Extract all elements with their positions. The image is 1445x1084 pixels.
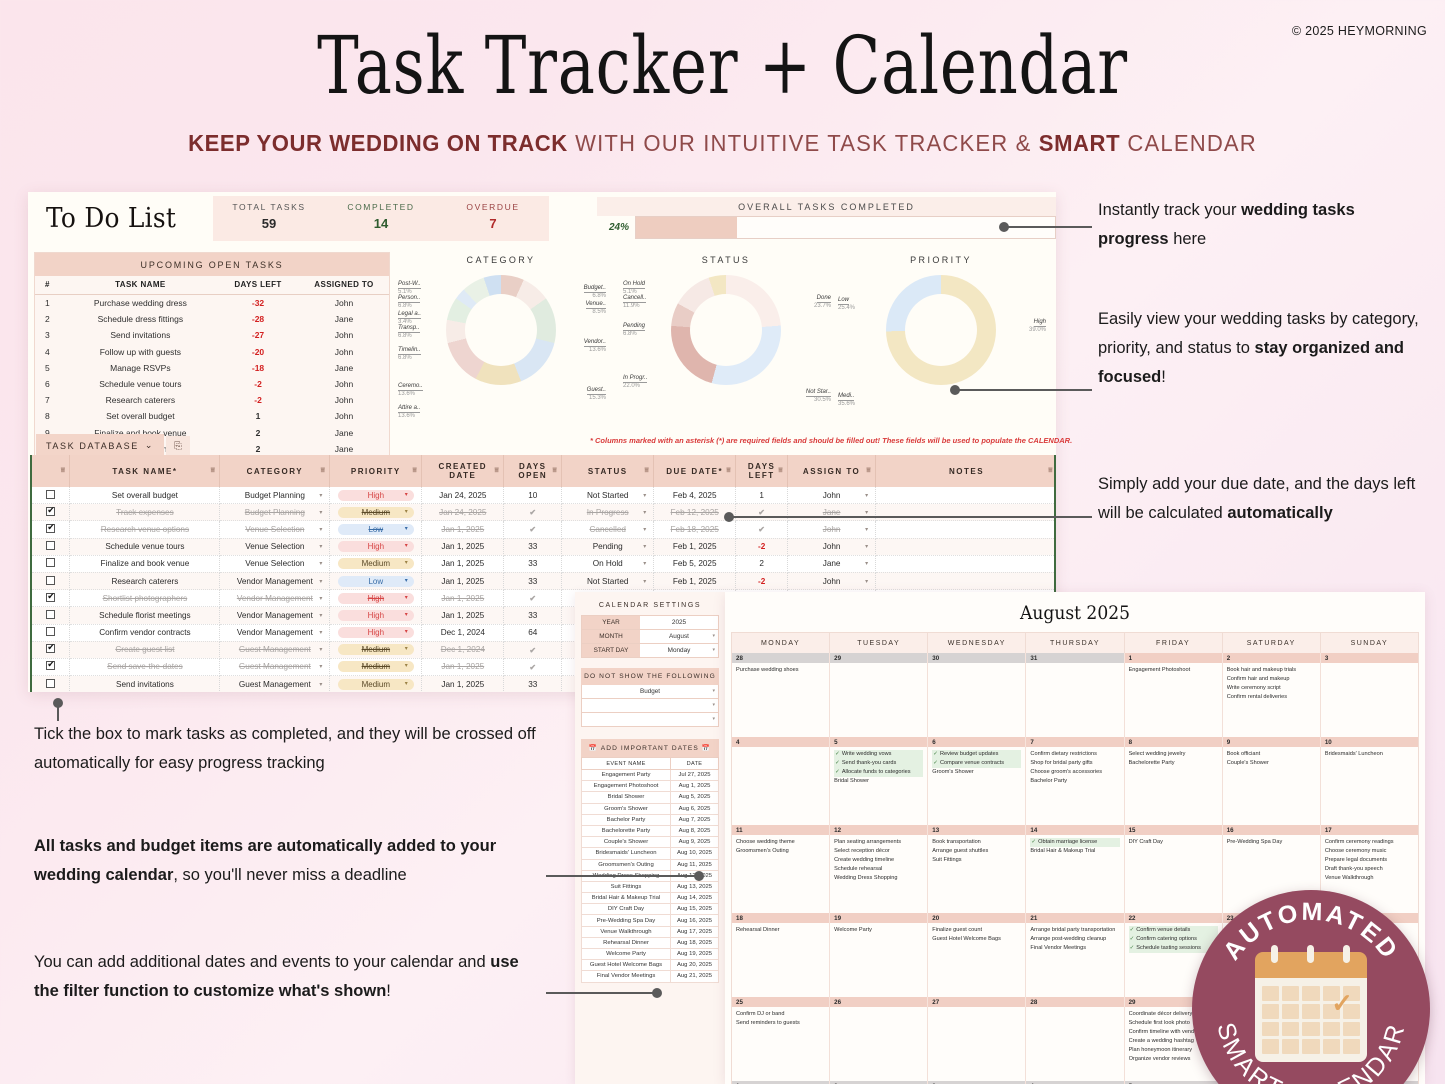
row-assign-to[interactable]: John▾ bbox=[788, 521, 876, 538]
calendar-event[interactable]: ✓Compare venue contracts bbox=[932, 759, 1021, 768]
important-date-row[interactable]: Engagement PartyJul 27, 2025 bbox=[582, 770, 719, 781]
task-checkbox[interactable] bbox=[46, 679, 55, 688]
important-date-row[interactable]: DIY Craft DayAug 15, 2025 bbox=[582, 904, 719, 915]
filter-icon[interactable]: ⩸ bbox=[1048, 467, 1054, 475]
row-task-name[interactable]: Schedule venue tours bbox=[70, 538, 220, 555]
chevron-down-icon[interactable]: ▾ bbox=[319, 681, 322, 688]
priority-chip[interactable]: Medium▾ bbox=[338, 661, 414, 672]
row-due-date[interactable]: Feb 5, 2025 bbox=[654, 555, 736, 572]
table-row[interactable]: Set overall budgetBudget Planning▾High▾J… bbox=[32, 487, 1056, 504]
important-event-name[interactable]: Guest Hotel Welcome Bags bbox=[582, 960, 671, 971]
calendar-day-cell[interactable] bbox=[732, 747, 830, 825]
chevron-down-icon[interactable]: ▾ bbox=[319, 578, 322, 585]
chevron-down-icon[interactable]: ▾ bbox=[319, 492, 322, 499]
task-checkbox[interactable] bbox=[46, 627, 55, 636]
setting-value[interactable]: 2025 bbox=[640, 616, 718, 629]
filter-icon[interactable]: ⩸ bbox=[778, 467, 784, 475]
calendar-event[interactable]: Book transportation bbox=[932, 838, 1021, 847]
calendar-event[interactable]: Guest Hotel Welcome Bags bbox=[932, 935, 1021, 944]
calendar-event[interactable]: Select wedding jewelry bbox=[1129, 750, 1218, 759]
chevron-down-icon[interactable]: ▾ bbox=[712, 702, 715, 708]
row-checkbox-cell[interactable] bbox=[32, 641, 70, 658]
row-due-date[interactable]: Feb 1, 2025 bbox=[654, 572, 736, 589]
calendar-event[interactable]: Arrange guest shuttles bbox=[932, 847, 1021, 856]
calendar-day-cell[interactable]: Choose wedding themeGroomsmen's Outing bbox=[732, 835, 830, 913]
priority-chip[interactable]: High▾ bbox=[338, 627, 414, 638]
category-dropdown[interactable]: Vendor Management▾ bbox=[223, 611, 326, 620]
assign-dropdown[interactable]: John▾ bbox=[791, 491, 872, 500]
calendar-event[interactable]: Bridal Shower bbox=[834, 777, 923, 786]
important-date-row[interactable]: Bridesmaids' LuncheonAug 10, 2025 bbox=[582, 848, 719, 859]
important-event-name[interactable]: Bridesmaids' Luncheon bbox=[582, 848, 671, 859]
important-event-date[interactable]: Aug 20, 2025 bbox=[671, 960, 719, 971]
important-event-date[interactable]: Aug 15, 2025 bbox=[671, 904, 719, 915]
db-col-checkbox[interactable]: ⩸ bbox=[32, 455, 70, 487]
chevron-down-icon[interactable]: ▾ bbox=[405, 628, 408, 635]
db-col-created-date[interactable]: CREATED DATE⩸ bbox=[422, 455, 504, 487]
tab-task-database[interactable]: TASK DATABASE ⌄ bbox=[36, 434, 164, 456]
chevron-down-icon[interactable]: ▾ bbox=[712, 688, 715, 694]
status-dropdown[interactable]: On Hold▾ bbox=[565, 559, 650, 568]
calendar-day-cell[interactable]: Purchase wedding shoes bbox=[732, 663, 830, 737]
calendar-day-cell[interactable]: ✓Review budget updates✓Compare venue con… bbox=[928, 747, 1026, 825]
row-assign-to[interactable]: John▾ bbox=[788, 487, 876, 504]
calendar-event[interactable]: DIY Craft Day bbox=[1129, 838, 1218, 847]
row-category[interactable]: Guest Management▾ bbox=[220, 658, 330, 675]
row-checkbox-cell[interactable] bbox=[32, 624, 70, 641]
calendar-day-cell[interactable]: Bridesmaids' Luncheon bbox=[1321, 747, 1418, 825]
task-checkbox[interactable] bbox=[46, 490, 55, 499]
row-category[interactable]: Guest Management▾ bbox=[220, 641, 330, 658]
calendar-event[interactable]: Bridal Hair & Makeup Trial bbox=[1030, 847, 1119, 856]
row-priority[interactable]: Medium▾ bbox=[330, 658, 422, 675]
important-event-name[interactable]: Couple's Shower bbox=[582, 837, 671, 848]
calendar-event[interactable]: Shop for bridal party gifts bbox=[1030, 759, 1119, 768]
calendar-event[interactable]: Schedule rehearsal bbox=[834, 865, 923, 874]
row-checkbox-cell[interactable] bbox=[32, 572, 70, 589]
row-task-name[interactable]: Schedule florist meetings bbox=[70, 607, 220, 624]
assign-dropdown[interactable]: John▾ bbox=[791, 577, 872, 586]
row-priority[interactable]: High▾ bbox=[330, 590, 422, 607]
important-event-date[interactable]: Aug 11, 2025 bbox=[671, 859, 719, 870]
important-event-name[interactable]: Pre-Wedding Spa Day bbox=[582, 915, 671, 926]
row-priority[interactable]: Low▾ bbox=[330, 572, 422, 589]
row-task-name[interactable]: Research venue options bbox=[70, 521, 220, 538]
chevron-down-icon[interactable]: ▾ bbox=[405, 594, 408, 601]
calendar-event[interactable]: Confirm hair and makeup bbox=[1227, 675, 1316, 684]
task-checkbox[interactable] bbox=[46, 576, 55, 585]
row-assign-to[interactable]: Jane▾ bbox=[788, 504, 876, 521]
calendar-day-cell[interactable]: Plan seating arrangementsSelect receptio… bbox=[830, 835, 928, 913]
row-status[interactable]: Pending▾ bbox=[562, 538, 654, 555]
row-category[interactable]: Venue Selection▾ bbox=[220, 521, 330, 538]
setting-value[interactable]: August▾ bbox=[640, 630, 718, 643]
row-checkbox-cell[interactable] bbox=[32, 504, 70, 521]
row-task-name[interactable]: Research caterers bbox=[70, 572, 220, 589]
row-category[interactable]: Venue Selection▾ bbox=[220, 555, 330, 572]
row-priority[interactable]: Medium▾ bbox=[330, 504, 422, 521]
chevron-down-icon[interactable]: ▾ bbox=[405, 645, 408, 652]
calendar-event[interactable]: Draft thank-you speech bbox=[1325, 865, 1414, 874]
filter-icon[interactable]: ⩸ bbox=[644, 467, 650, 475]
calendar-event[interactable]: ✓Allocate funds to categories bbox=[834, 768, 923, 777]
calendar-event[interactable]: Write ceremony script bbox=[1227, 684, 1316, 693]
important-date-row[interactable]: Groomsmen's OutingAug 11, 2025 bbox=[582, 859, 719, 870]
task-checkbox[interactable] bbox=[46, 661, 55, 670]
calendar-event[interactable]: ✓Write wedding vows bbox=[834, 750, 923, 759]
important-event-name[interactable]: Bachelorette Party bbox=[582, 825, 671, 836]
category-dropdown[interactable]: Budget Planning▾ bbox=[223, 491, 326, 500]
row-category[interactable]: Vendor Management▾ bbox=[220, 572, 330, 589]
calendar-event[interactable]: Confirm ceremony readings bbox=[1325, 838, 1414, 847]
db-col-days-open[interactable]: DAYS OPEN⩸ bbox=[504, 455, 562, 487]
filter-icon[interactable]: ⩸ bbox=[495, 467, 501, 475]
row-task-name[interactable]: Track expenses bbox=[70, 504, 220, 521]
calendar-event[interactable]: Arrange bridal party transportation bbox=[1030, 926, 1119, 935]
row-status[interactable]: Not Started▾ bbox=[562, 487, 654, 504]
priority-chip[interactable]: High▾ bbox=[338, 610, 414, 621]
chevron-down-icon[interactable]: ▾ bbox=[643, 492, 646, 499]
row-task-name[interactable]: Send invitations bbox=[70, 676, 220, 692]
calendar-day-cell[interactable]: Rehearsal Dinner bbox=[732, 923, 830, 997]
calendar-event[interactable]: Suit Fittings bbox=[932, 856, 1021, 865]
row-status[interactable]: On Hold▾ bbox=[562, 555, 654, 572]
row-checkbox-cell[interactable] bbox=[32, 676, 70, 692]
row-checkbox-cell[interactable] bbox=[32, 555, 70, 572]
calendar-event[interactable]: Engagement Photoshoot bbox=[1129, 666, 1218, 675]
important-date-row[interactable]: Engagement PhotoshootAug 1, 2025 bbox=[582, 781, 719, 792]
important-event-date[interactable]: Aug 16, 2025 bbox=[671, 915, 719, 926]
chevron-down-icon[interactable]: ⌄ bbox=[145, 440, 154, 451]
row-notes[interactable] bbox=[876, 504, 1056, 521]
chevron-down-icon[interactable]: ▾ bbox=[405, 662, 408, 669]
task-checkbox[interactable] bbox=[46, 524, 55, 533]
calendar-event[interactable]: Finalize guest count bbox=[932, 926, 1021, 935]
chevron-down-icon[interactable]: ▾ bbox=[712, 633, 715, 639]
setting-value[interactable]: Monday▾ bbox=[640, 644, 718, 657]
chevron-down-icon[interactable]: ▾ bbox=[319, 629, 322, 636]
filter-icon[interactable]: ⩸ bbox=[321, 467, 327, 475]
calendar-event[interactable]: Choose ceremony music bbox=[1325, 847, 1414, 856]
table-row[interactable]: Research caterersVendor Management▾Low▾J… bbox=[32, 572, 1056, 589]
chevron-down-icon[interactable]: ▾ bbox=[643, 509, 646, 516]
calendar-event[interactable]: Send reminders to guests bbox=[736, 1019, 825, 1028]
important-date-row[interactable]: Bachelorette PartyAug 8, 2025 bbox=[582, 825, 719, 836]
important-date-row[interactable]: Bridal Hair & Makeup TrialAug 14, 2025 bbox=[582, 893, 719, 904]
calendar-day-cell[interactable]: Engagement Photoshoot bbox=[1125, 663, 1223, 737]
chevron-down-icon[interactable]: ▾ bbox=[405, 559, 408, 566]
chevron-down-icon[interactable]: ▾ bbox=[712, 647, 715, 653]
important-date-row[interactable]: Guest Hotel Welcome BagsAug 20, 2025 bbox=[582, 960, 719, 971]
important-event-date[interactable]: Aug 1, 2025 bbox=[671, 781, 719, 792]
row-category[interactable]: Venue Selection▾ bbox=[220, 538, 330, 555]
row-checkbox-cell[interactable] bbox=[32, 538, 70, 555]
important-event-name[interactable]: Venue Walkthrough bbox=[582, 926, 671, 937]
important-event-name[interactable]: Rehearsal Dinner bbox=[582, 937, 671, 948]
calendar-event[interactable]: Plan seating arrangements bbox=[834, 838, 923, 847]
table-row[interactable]: Finalize and book venueVenue Selection▾M… bbox=[32, 555, 1056, 572]
row-notes[interactable] bbox=[876, 538, 1056, 555]
important-event-name[interactable]: Groomsmen's Outing bbox=[582, 859, 671, 870]
row-due-date[interactable]: Feb 18, 2025 bbox=[654, 521, 736, 538]
important-event-name[interactable]: Groom's Shower bbox=[582, 803, 671, 814]
row-checkbox-cell[interactable] bbox=[32, 607, 70, 624]
important-event-date[interactable]: Aug 19, 2025 bbox=[671, 949, 719, 960]
filter-icon[interactable]: ⩸ bbox=[866, 467, 872, 475]
filter-icon[interactable]: ⩸ bbox=[211, 467, 217, 475]
chevron-down-icon[interactable]: ▾ bbox=[405, 491, 408, 498]
calendar-event[interactable]: ✓Obtain marriage license bbox=[1030, 838, 1119, 847]
important-event-date[interactable]: Aug 6, 2025 bbox=[671, 803, 719, 814]
row-category[interactable]: Budget Planning▾ bbox=[220, 504, 330, 521]
calendar-day-cell[interactable]: Book transportationArrange guest shuttle… bbox=[928, 835, 1026, 913]
chevron-down-icon[interactable]: ▾ bbox=[319, 663, 322, 670]
important-event-name[interactable]: Suit Fittings bbox=[582, 881, 671, 892]
important-event-name[interactable]: DIY Craft Day bbox=[582, 904, 671, 915]
calendar-day-cell[interactable] bbox=[1321, 663, 1418, 737]
row-checkbox-cell[interactable] bbox=[32, 487, 70, 504]
row-assign-to[interactable]: John▾ bbox=[788, 538, 876, 555]
calendar-day-cell[interactable]: ✓Obtain marriage licenseBridal Hair & Ma… bbox=[1026, 835, 1124, 913]
row-category[interactable]: Vendor Management▾ bbox=[220, 624, 330, 641]
exclude-option[interactable]: Budget▾ bbox=[581, 685, 719, 699]
important-event-date[interactable]: Aug 14, 2025 bbox=[671, 893, 719, 904]
row-priority[interactable]: High▾ bbox=[330, 607, 422, 624]
calendar-event[interactable]: Confirm rental deliveries bbox=[1227, 693, 1316, 702]
table-row[interactable]: Research venue optionsVenue Selection▾Lo… bbox=[32, 521, 1056, 538]
important-event-date[interactable]: Aug 18, 2025 bbox=[671, 937, 719, 948]
table-row[interactable]: Schedule venue toursVenue Selection▾High… bbox=[32, 538, 1056, 555]
row-priority[interactable]: Medium▾ bbox=[330, 676, 422, 692]
important-event-date[interactable]: Jul 27, 2025 bbox=[671, 770, 719, 781]
calendar-event[interactable]: Arrange post-wedding cleanup bbox=[1030, 935, 1119, 944]
row-checkbox-cell[interactable] bbox=[32, 590, 70, 607]
calendar-day-cell[interactable] bbox=[830, 663, 928, 737]
chevron-down-icon[interactable]: ▾ bbox=[643, 560, 646, 567]
calendar-event[interactable]: Bridesmaids' Luncheon bbox=[1325, 750, 1414, 759]
assign-dropdown[interactable]: John▾ bbox=[791, 525, 872, 534]
row-task-name[interactable]: Create guest list bbox=[70, 641, 220, 658]
chevron-down-icon[interactable]: ▾ bbox=[712, 716, 715, 722]
chevron-down-icon[interactable]: ▾ bbox=[405, 508, 408, 515]
row-notes[interactable] bbox=[876, 555, 1056, 572]
calendar-day-cell[interactable]: Finalize guest countGuest Hotel Welcome … bbox=[928, 923, 1026, 997]
important-date-row[interactable]: Couple's ShowerAug 9, 2025 bbox=[582, 837, 719, 848]
calendar-event[interactable]: Book hair and makeup trials bbox=[1227, 666, 1316, 675]
important-date-row[interactable]: Final Vendor MeetingsAug 21, 2025 bbox=[582, 971, 719, 982]
chevron-down-icon[interactable]: ▾ bbox=[865, 492, 868, 499]
row-priority[interactable]: Medium▾ bbox=[330, 641, 422, 658]
category-dropdown[interactable]: Vendor Management▾ bbox=[223, 628, 326, 637]
priority-chip[interactable]: Medium▾ bbox=[338, 679, 414, 690]
row-priority[interactable]: High▾ bbox=[330, 624, 422, 641]
priority-chip[interactable]: High▾ bbox=[338, 593, 414, 604]
calendar-event[interactable]: Choose wedding theme bbox=[736, 838, 825, 847]
row-category[interactable]: Vendor Management▾ bbox=[220, 607, 330, 624]
calendar-event[interactable]: Prepare legal documents bbox=[1325, 856, 1414, 865]
row-priority[interactable]: High▾ bbox=[330, 487, 422, 504]
important-date-row[interactable]: Bridal ShowerAug 5, 2025 bbox=[582, 792, 719, 803]
important-event-date[interactable]: Aug 5, 2025 bbox=[671, 792, 719, 803]
db-col-notes[interactable]: NOTES⩸ bbox=[876, 455, 1056, 487]
important-event-date[interactable]: Aug 9, 2025 bbox=[671, 837, 719, 848]
chevron-down-icon[interactable]: ▾ bbox=[319, 560, 322, 567]
category-dropdown[interactable]: Venue Selection▾ bbox=[223, 542, 326, 551]
db-col-task-name-[interactable]: TASK NAME*⩸ bbox=[70, 455, 220, 487]
priority-chip[interactable]: Medium▾ bbox=[338, 644, 414, 655]
important-event-date[interactable]: Aug 8, 2025 bbox=[671, 825, 719, 836]
db-col-assign-to[interactable]: ASSIGN TO⩸ bbox=[788, 455, 876, 487]
calendar-event[interactable]: Create wedding timeline bbox=[834, 856, 923, 865]
chevron-down-icon[interactable]: ▾ bbox=[643, 526, 646, 533]
calendar-event[interactable]: Confirm dietary restrictions bbox=[1030, 750, 1119, 759]
calendar-event[interactable]: Select reception décor bbox=[834, 847, 923, 856]
category-dropdown[interactable]: Budget Planning▾ bbox=[223, 508, 326, 517]
category-dropdown[interactable]: Venue Selection▾ bbox=[223, 525, 326, 534]
task-checkbox[interactable] bbox=[46, 541, 55, 550]
row-notes[interactable] bbox=[876, 487, 1056, 504]
row-priority[interactable]: Low▾ bbox=[330, 521, 422, 538]
chevron-down-icon[interactable]: ▾ bbox=[405, 611, 408, 618]
calendar-day-cell[interactable]: Confirm dietary restrictionsShop for bri… bbox=[1026, 747, 1124, 825]
exclude-option[interactable]: ▾ bbox=[581, 699, 719, 713]
category-dropdown[interactable]: Venue Selection▾ bbox=[223, 559, 326, 568]
calendar-event[interactable]: Confirm DJ or band bbox=[736, 1010, 825, 1019]
chevron-down-icon[interactable]: ▾ bbox=[865, 578, 868, 585]
row-assign-to[interactable]: John▾ bbox=[788, 572, 876, 589]
row-assign-to[interactable]: Jane▾ bbox=[788, 555, 876, 572]
important-event-date[interactable]: Aug 7, 2025 bbox=[671, 814, 719, 825]
task-checkbox[interactable] bbox=[46, 610, 55, 619]
important-date-row[interactable]: Groom's ShowerAug 6, 2025 bbox=[582, 803, 719, 814]
row-task-name[interactable]: Finalize and book venue bbox=[70, 555, 220, 572]
task-checkbox[interactable] bbox=[46, 644, 55, 653]
db-col-priority[interactable]: PRIORITY⩸ bbox=[330, 455, 422, 487]
calendar-day-cell[interactable]: Book hair and makeup trialsConfirm hair … bbox=[1223, 663, 1321, 737]
calendar-day-cell[interactable] bbox=[1026, 663, 1124, 737]
priority-chip[interactable]: Medium▾ bbox=[338, 558, 414, 569]
calendar-event[interactable]: Groom's Shower bbox=[932, 768, 1021, 777]
chevron-down-icon[interactable]: ▾ bbox=[865, 509, 868, 516]
calendar-day-cell[interactable] bbox=[1026, 1007, 1124, 1081]
row-due-date[interactable]: Feb 1, 2025 bbox=[654, 538, 736, 555]
row-status[interactable]: Cancelled▾ bbox=[562, 521, 654, 538]
calendar-event[interactable]: Choose groom's accessories bbox=[1030, 768, 1119, 777]
filter-icon[interactable]: ⩸ bbox=[413, 467, 419, 475]
chevron-down-icon[interactable]: ▾ bbox=[405, 542, 408, 549]
assign-dropdown[interactable]: Jane▾ bbox=[791, 559, 872, 568]
filter-icon[interactable]: ⩸ bbox=[552, 467, 558, 475]
important-event-date[interactable]: Aug 21, 2025 bbox=[671, 971, 719, 982]
category-dropdown[interactable]: Vendor Management▾ bbox=[223, 594, 326, 603]
row-status[interactable]: Not Started▾ bbox=[562, 572, 654, 589]
important-event-name[interactable]: Engagement Party bbox=[582, 770, 671, 781]
calendar-event[interactable]: Bachelorette Party bbox=[1129, 759, 1218, 768]
status-dropdown[interactable]: Not Started▾ bbox=[565, 577, 650, 586]
task-checkbox[interactable] bbox=[46, 507, 55, 516]
row-notes[interactable] bbox=[876, 521, 1056, 538]
filter-icon[interactable]: ⩸ bbox=[726, 467, 732, 475]
row-priority[interactable]: High▾ bbox=[330, 538, 422, 555]
chevron-down-icon[interactable]: ▾ bbox=[405, 680, 408, 687]
db-col-category[interactable]: CATEGORY⩸ bbox=[220, 455, 330, 487]
calendar-day-cell[interactable]: Select wedding jewelryBachelorette Party bbox=[1125, 747, 1223, 825]
row-notes[interactable] bbox=[876, 572, 1056, 589]
row-category[interactable]: Budget Planning▾ bbox=[220, 487, 330, 504]
calendar-event[interactable]: Welcome Party bbox=[834, 926, 923, 935]
calendar-event[interactable]: ✓Send thank-you cards bbox=[834, 759, 923, 768]
chevron-down-icon[interactable]: ▾ bbox=[319, 526, 322, 533]
important-event-date[interactable]: Aug 17, 2025 bbox=[671, 926, 719, 937]
priority-chip[interactable]: Low▾ bbox=[338, 576, 414, 587]
important-date-row[interactable]: Venue WalkthroughAug 17, 2025 bbox=[582, 926, 719, 937]
db-col-days-left[interactable]: DAYS LEFT⩸ bbox=[736, 455, 788, 487]
row-category[interactable]: Guest Management▾ bbox=[220, 676, 330, 692]
chevron-down-icon[interactable]: ▾ bbox=[643, 543, 646, 550]
calendar-event[interactable]: Couple's Shower bbox=[1227, 759, 1316, 768]
important-event-date[interactable]: Aug 10, 2025 bbox=[671, 848, 719, 859]
chevron-down-icon[interactable]: ▾ bbox=[319, 646, 322, 653]
important-event-date[interactable]: Aug 13, 2025 bbox=[671, 881, 719, 892]
calendar-event[interactable]: Final Vendor Meetings bbox=[1030, 944, 1119, 953]
important-event-name[interactable]: Bachelor Party bbox=[582, 814, 671, 825]
chevron-down-icon[interactable]: ▾ bbox=[865, 560, 868, 567]
chevron-down-icon[interactable]: ▾ bbox=[319, 543, 322, 550]
important-event-name[interactable]: Bridal Hair & Makeup Trial bbox=[582, 893, 671, 904]
calendar-event[interactable]: Purchase wedding shoes bbox=[736, 666, 825, 675]
important-date-row[interactable]: Rehearsal DinnerAug 18, 2025 bbox=[582, 937, 719, 948]
task-checkbox[interactable] bbox=[46, 558, 55, 567]
exclude-option[interactable]: ▾ bbox=[581, 713, 719, 727]
chevron-down-icon[interactable]: ▾ bbox=[405, 525, 408, 532]
important-date-row[interactable]: Suit FittingsAug 13, 2025 bbox=[582, 881, 719, 892]
row-due-date[interactable]: Feb 4, 2025 bbox=[654, 487, 736, 504]
row-task-name[interactable]: Confirm vendor contracts bbox=[70, 624, 220, 641]
calendar-day-cell[interactable]: Welcome Party bbox=[830, 923, 928, 997]
task-checkbox[interactable] bbox=[46, 593, 55, 602]
table-row[interactable]: Track expensesBudget Planning▾Medium▾Jan… bbox=[32, 504, 1056, 521]
status-dropdown[interactable]: Pending▾ bbox=[565, 542, 650, 551]
important-date-row[interactable]: Pre-Wedding Spa DayAug 16, 2025 bbox=[582, 915, 719, 926]
row-task-name[interactable]: Shortlist photographers bbox=[70, 590, 220, 607]
category-dropdown[interactable]: Guest Management▾ bbox=[223, 645, 326, 654]
status-dropdown[interactable]: Cancelled▾ bbox=[565, 525, 650, 534]
calendar-day-cell[interactable] bbox=[928, 1007, 1026, 1081]
calendar-day-cell[interactable] bbox=[928, 663, 1026, 737]
calendar-event[interactable]: Wedding Dress Shopping bbox=[834, 874, 923, 883]
row-checkbox-cell[interactable] bbox=[32, 658, 70, 675]
calendar-event[interactable]: Rehearsal Dinner bbox=[736, 926, 825, 935]
db-col-due-date-[interactable]: DUE DATE*⩸ bbox=[654, 455, 736, 487]
category-dropdown[interactable]: Guest Management▾ bbox=[223, 680, 326, 689]
priority-chip[interactable]: High▾ bbox=[338, 541, 414, 552]
chevron-down-icon[interactable]: ▾ bbox=[405, 577, 408, 584]
chevron-down-icon[interactable]: ▾ bbox=[319, 612, 322, 619]
status-dropdown[interactable]: Not Started▾ bbox=[565, 491, 650, 500]
calendar-event[interactable]: Book officiant bbox=[1227, 750, 1316, 759]
row-status[interactable]: In Progress▾ bbox=[562, 504, 654, 521]
duplicate-sheet-icon[interactable]: ⎘ bbox=[166, 436, 190, 456]
row-checkbox-cell[interactable] bbox=[32, 521, 70, 538]
row-task-name[interactable]: Send save-the-dates bbox=[70, 658, 220, 675]
assign-dropdown[interactable]: John▾ bbox=[791, 542, 872, 551]
calendar-day-cell[interactable]: Book officiantCouple's Shower bbox=[1223, 747, 1321, 825]
row-priority[interactable]: Medium▾ bbox=[330, 555, 422, 572]
priority-chip[interactable]: Medium▾ bbox=[338, 507, 414, 518]
calendar-event[interactable]: Pre-Wedding Spa Day bbox=[1227, 838, 1316, 847]
important-date-row[interactable]: Bachelor PartyAug 7, 2025 bbox=[582, 814, 719, 825]
calendar-day-cell[interactable]: Confirm DJ or bandSend reminders to gues… bbox=[732, 1007, 830, 1081]
